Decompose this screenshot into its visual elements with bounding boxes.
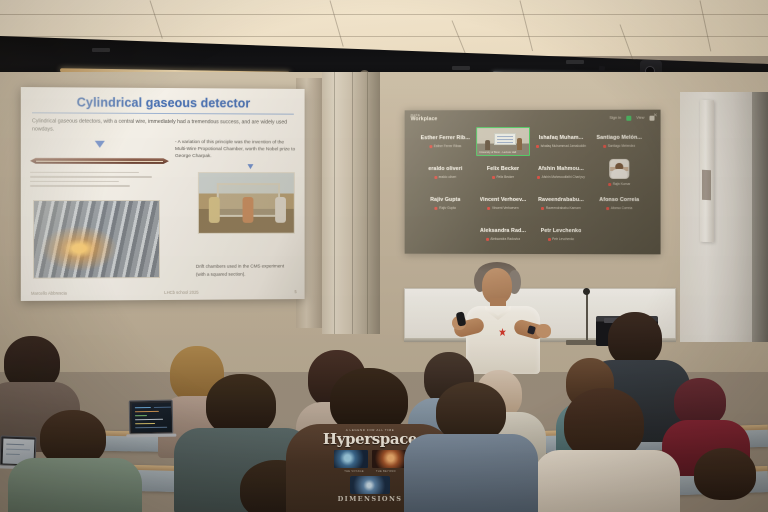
participant-handle-row: Rajiv Gupta — [435, 206, 456, 210]
tshirt-sub-right: THE BEYOND — [376, 470, 396, 473]
lecture-hall-scene: Cylindrical gaseous detector Cylindrical… — [0, 0, 768, 512]
participant-row: eraldo oliveri eraldo oliveri Felix Beck… — [409, 158, 657, 187]
participant-name: Rajiv Gupta — [430, 197, 460, 203]
participant-name: eraldo oliveri — [428, 166, 462, 172]
mic-muted-icon — [536, 144, 539, 147]
wall-pillar — [322, 72, 380, 334]
participant-handle: Felix Becker — [497, 175, 515, 179]
mic-muted-icon — [486, 237, 489, 240]
participant-tile[interactable]: Ishafaq Muham... Ishafaq Muhammad Jamalu… — [534, 127, 588, 156]
avatar — [609, 159, 629, 179]
workplace-wordmark: Workplace — [411, 117, 438, 122]
slide-footer: Marcello Abbrescia LHCb school 2025 5 — [31, 289, 297, 296]
participant-handle: Afonso Correia — [611, 206, 632, 210]
participant-handle-row: Esther Ferrer Ribas — [429, 144, 461, 148]
laptop-screen — [131, 402, 171, 432]
mic-muted-icon — [548, 238, 551, 241]
view-button[interactable]: View — [636, 116, 644, 120]
participant-row: Rajiv Gupta Rajiv Gupta Vincent Verhoev.… — [409, 189, 657, 218]
participant-handle-row: Afshin Mahmoodfathi Charlyvy — [537, 175, 585, 179]
photo-drift-chamber — [33, 200, 160, 279]
participant-tile[interactable]: Rajiv Gupta Rajiv Gupta — [419, 189, 473, 218]
participant-handle: Raveendrababu Karnam — [546, 206, 581, 210]
participant-handle: Afshin Mahmoodfathi Charlyvy — [542, 175, 585, 179]
participant-handle-row: eraldo oliveri — [434, 175, 456, 179]
participant-handle-row: Aleksandra Radovicz — [486, 237, 520, 241]
cylindrical-detector-diagram — [30, 154, 169, 167]
torso — [404, 434, 538, 512]
participant-row: Aleksandra Rad... Aleksandra Radovicz Pe… — [409, 220, 657, 249]
mic-muted-icon — [541, 207, 544, 210]
speaker-grill — [702, 170, 711, 200]
torso — [8, 458, 142, 512]
slide-title-rule — [32, 112, 294, 114]
videoconf-top-actions: Sign in View — [609, 115, 654, 120]
slide-faded-annotations — [30, 171, 169, 187]
participant-handle-row: Felix Becker — [492, 175, 514, 179]
participant-tile[interactable]: Petr Levchenko Petr Levchenko — [534, 220, 588, 249]
mic-muted-icon — [487, 206, 490, 209]
head — [206, 374, 276, 436]
participant-handle: Petr Levchenko — [552, 237, 574, 241]
slide-photo-caption: Drift chambers used in the CMS experimen… — [196, 263, 295, 278]
projection-screen-right-videoconference: meta Workplace Sign in View ✕ Esther Fer… — [405, 110, 661, 255]
participant-name: Afonso Correia — [599, 197, 639, 203]
audience-member-front — [14, 410, 136, 512]
slide-left-column — [30, 138, 169, 190]
tshirt-planet-art — [350, 476, 390, 494]
wall-speaker-column — [700, 100, 714, 243]
presentation-clicker[interactable] — [456, 311, 467, 326]
projection-screen-left: Cylindrical gaseous detector Cylindrical… — [21, 87, 305, 301]
mic-muted-icon — [492, 176, 495, 179]
participant-handle: Santiago Melendez — [608, 144, 635, 148]
participant-handle-row: Raveendrababu Karnam — [541, 206, 580, 210]
participant-handle-row: Petr Levchenko — [548, 237, 575, 241]
central-wire — [36, 161, 164, 162]
participant-name: Santiago Melón... — [596, 135, 642, 141]
mic-muted-icon — [603, 144, 606, 147]
participant-name: Felix Becker — [487, 166, 519, 172]
slide-footer-author: Marcello Abbrescia — [31, 291, 67, 296]
participant-handle: Rajiv Gupta — [439, 206, 456, 210]
active-tile-caption: University of Bonn - Lecture Hall — [479, 151, 527, 154]
participant-tile[interactable]: Raveendrababu... Raveendrababu Karnam — [534, 189, 588, 218]
participant-name: Vincent Verhoev... — [480, 197, 527, 203]
ceiling-vent-right — [566, 60, 584, 64]
participant-handle-row: Rajiv Kumar — [608, 182, 630, 186]
slide-content: Cylindrical gaseous detector Cylindrical… — [21, 87, 305, 301]
head — [436, 382, 506, 442]
participant-name: Esther Ferrer Rib... — [421, 135, 470, 141]
tshirt-subcaptions: THE VOYAGE THE BEYOND — [344, 470, 396, 473]
participant-handle: Ishafaq Muhammad Jamaluddin — [541, 144, 586, 148]
active-speaker-tile[interactable]: University of Bonn - Lecture Hall — [476, 127, 530, 156]
ceiling-vent-left — [92, 48, 110, 52]
tshirt-sub-left: THE VOYAGE — [344, 470, 364, 473]
participant-grid: Esther Ferrer Rib... Esther Ferrer Ribas… — [409, 127, 657, 252]
mic-muted-icon — [608, 183, 611, 186]
mic-muted-icon — [537, 175, 540, 178]
participant-handle: Rajiv Kumar — [613, 182, 630, 186]
right-wall-edge — [752, 92, 768, 342]
participant-tile[interactable]: Afshin Mahmou... Afshin Mahmoodfathi Cha… — [534, 158, 588, 187]
slide-footer-event: LHCb school 2025 — [164, 290, 198, 295]
participant-handle: Esther Ferrer Ribas — [434, 144, 462, 148]
slide-page-number: 5 — [294, 289, 296, 294]
microphone-stand — [586, 292, 588, 342]
mic-muted-icon — [429, 145, 432, 148]
tshirt-title: Hyperspace — [323, 432, 417, 447]
participant-handle-row: Afonso Correia — [606, 206, 632, 210]
participant-tile[interactable]: Esther Ferrer Rib... Esther Ferrer Ribas — [419, 127, 473, 156]
participant-name: Petr Levchenko — [541, 228, 582, 234]
slide-body-text: Cylindrical gaseous detectors, with a ce… — [30, 118, 296, 135]
participant-handle: Vincent Verhoeven — [492, 206, 519, 210]
mic-muted-icon — [434, 176, 437, 179]
head — [694, 448, 756, 500]
audience-member-front — [680, 448, 768, 512]
participant-name: Aleksandra Rad... — [480, 228, 526, 234]
close-icon[interactable]: ✕ — [653, 113, 657, 119]
participant-tile[interactable]: Santiago Melón... Santiago Melendez — [592, 127, 646, 156]
participant-name: Ishafaq Muham... — [539, 135, 584, 141]
presenter-right-hand — [536, 324, 551, 338]
participant-tile[interactable]: eraldo oliveri eraldo oliveri — [419, 158, 473, 187]
arrow-down-icon — [95, 140, 105, 147]
participant-tile-avatar[interactable]: Rajiv Kumar — [592, 158, 646, 187]
microphone-icon — [583, 288, 590, 295]
arrow-down-icon-secondary — [247, 164, 253, 169]
sign-in-button[interactable]: Sign in — [609, 116, 621, 120]
tshirt-art-panels — [334, 450, 406, 468]
torso — [534, 450, 680, 512]
ceiling-vent-mid — [452, 66, 470, 70]
status-badge — [626, 115, 631, 120]
participant-handle-row: Santiago Melendez — [603, 144, 635, 148]
participant-tile[interactable]: Aleksandra Rad... Aleksandra Radovicz — [476, 220, 530, 249]
participant-handle: Aleksandra Radovicz — [490, 237, 520, 241]
participant-handle-row: Ishafaq Muhammad Jamaluddin — [536, 144, 586, 148]
workplace-logo: meta Workplace — [411, 114, 438, 123]
head — [674, 378, 726, 426]
tshirt-bottom-text: DIMENSIONS — [338, 495, 403, 503]
active-tile-mini-slide — [494, 133, 516, 145]
mic-muted-icon — [606, 207, 609, 210]
photo-mwpc-chamber — [198, 172, 295, 234]
participant-tile[interactable]: Afonso Correia Afonso Correia — [592, 189, 646, 218]
participant-tile[interactable]: Vincent Verhoev... Vincent Verhoeven — [476, 189, 530, 218]
mic-muted-icon — [435, 206, 438, 209]
participant-handle-row: Vincent Verhoeven — [487, 206, 518, 210]
slide-title: Cylindrical gaseous detector — [30, 95, 296, 111]
participant-tile[interactable]: Felix Becker Felix Becker — [476, 158, 530, 187]
participant-handle: eraldo oliveri — [439, 175, 457, 179]
participant-name: Raveendrababu... — [538, 197, 584, 203]
audience-member-front — [534, 388, 680, 512]
audience-member-front — [408, 382, 534, 512]
videoconf-top-bar: meta Workplace Sign in View — [405, 110, 661, 127]
participant-name: Afshin Mahmou... — [538, 166, 584, 172]
participant-row: Esther Ferrer Rib... Esther Ferrer Ribas… — [409, 127, 657, 156]
